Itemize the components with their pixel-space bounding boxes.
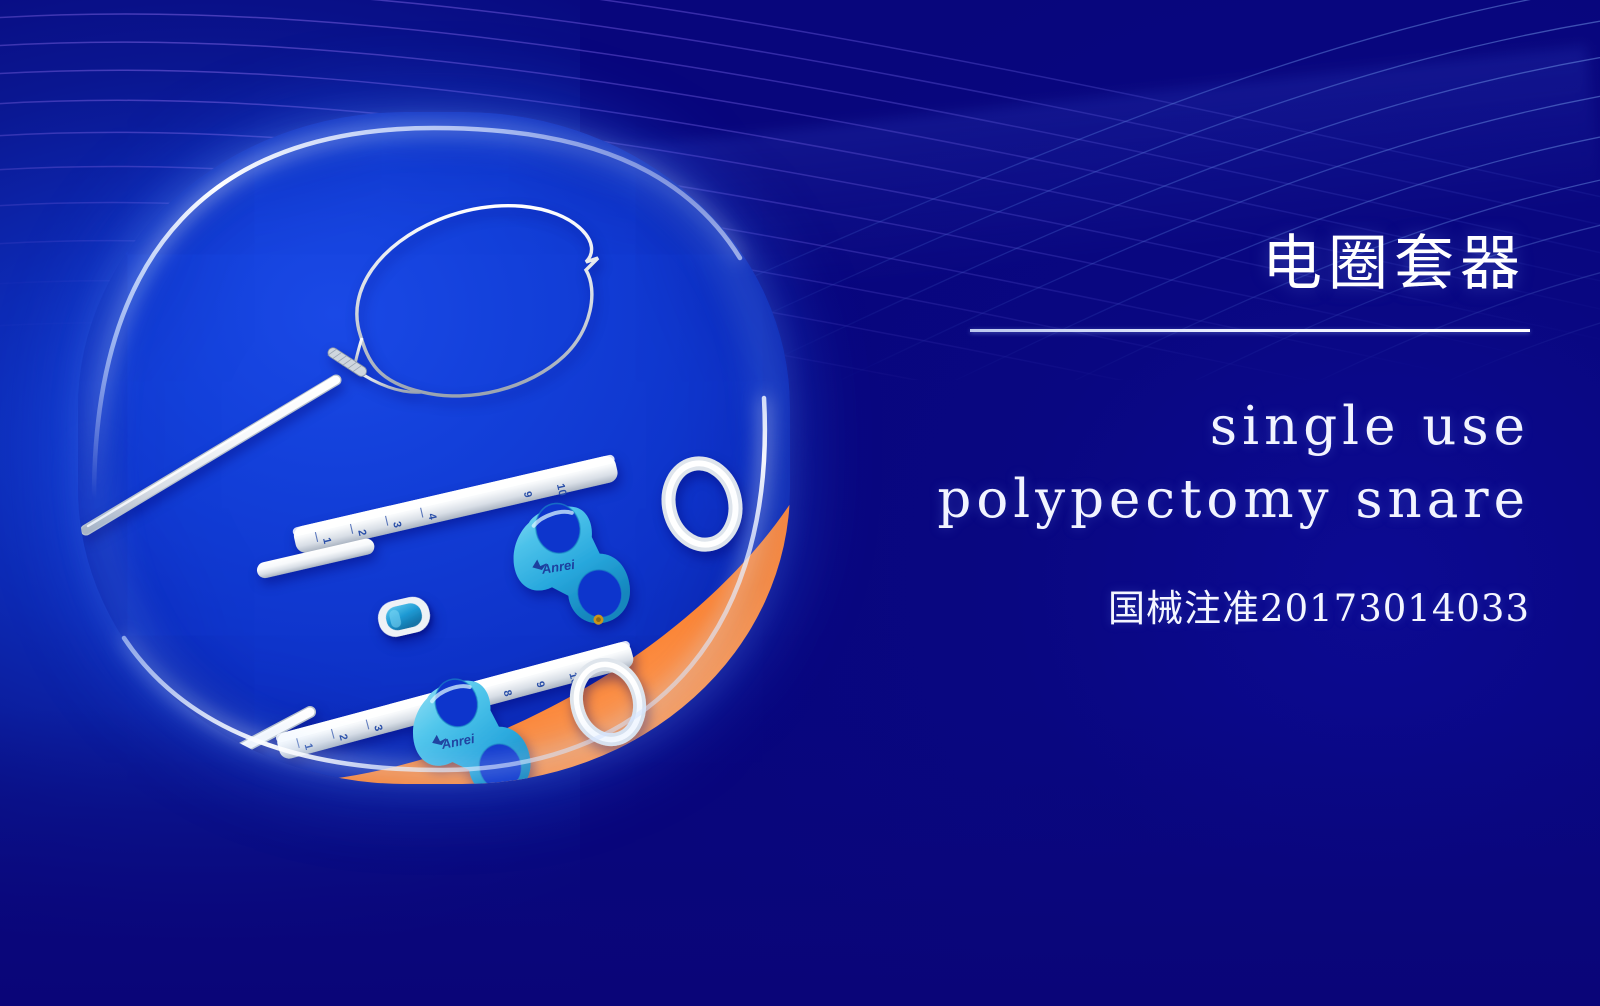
product-title-en: single use polypectomy snare	[930, 390, 1530, 536]
banner-stage: 1 2 3 4 9 10	[0, 0, 1600, 1006]
brand-logo-upper: Anrei	[540, 557, 577, 577]
title-divider	[970, 329, 1530, 332]
svg-text:3: 3	[390, 520, 403, 529]
registration-number: 国械注准20173014033	[930, 578, 1530, 632]
svg-text:2: 2	[336, 733, 349, 742]
svg-text:3: 3	[371, 724, 384, 733]
svg-text:1: 1	[320, 537, 333, 546]
product-image-panel: 1 2 3 4 9 10	[78, 112, 790, 784]
svg-text:4: 4	[425, 512, 438, 522]
svg-text:10: 10	[554, 483, 568, 498]
product-title-en-line2: polypectomy snare	[930, 463, 1530, 536]
svg-text:8: 8	[501, 689, 514, 698]
svg-text:2: 2	[355, 528, 368, 537]
orange-accent-swoosh	[78, 112, 790, 784]
svg-text:9: 9	[533, 680, 546, 689]
svg-text:10: 10	[566, 671, 581, 686]
banner-text-column: 电圈套器 single use polypectomy snare 国械注准20…	[930, 230, 1530, 632]
svg-text:9: 9	[521, 490, 534, 499]
product-title-en-line1: single use	[930, 390, 1530, 463]
snare-device-illustration: 1 2 3 4 9 10	[78, 112, 790, 784]
panel-surface: 1 2 3 4 9 10	[78, 112, 790, 784]
brand-logo-lower: Anrei	[439, 731, 476, 752]
product-title-cn: 电圈套器	[930, 230, 1530, 299]
svg-text:1: 1	[302, 742, 315, 751]
